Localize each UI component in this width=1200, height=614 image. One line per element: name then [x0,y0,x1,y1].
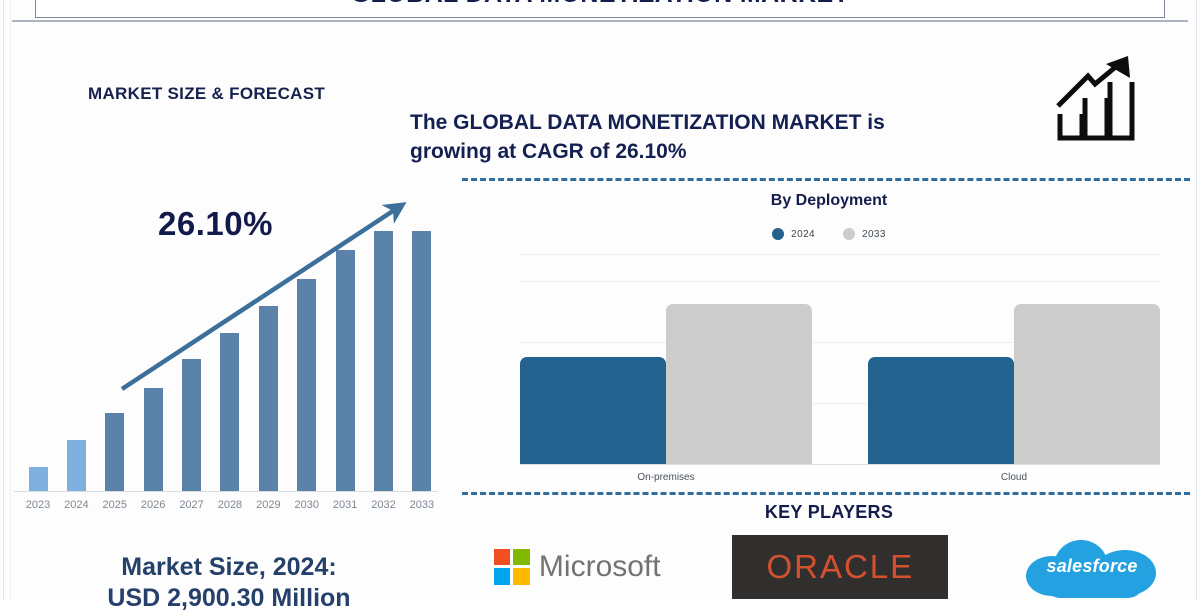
left-bar-slot [174,208,210,491]
key-players-row: Microsoft ORACLE salesforce [458,533,1200,600]
market-size-forecast-panel: MARKET SIZE & FORECAST 26.10% 2023202420… [0,24,458,600]
left-bar-2024 [67,440,86,491]
left-bar-slot [135,208,171,491]
left-chart-bars [14,208,446,491]
growth-chart-arrow-icon [1052,52,1144,144]
left-bar-slot [250,208,286,491]
microsoft-logo-quadrant-1 [513,549,530,566]
left-x-label-2023: 2023 [20,494,56,516]
segment-chart-legend: 20242033 [458,228,1200,240]
legend-item-2024[interactable]: 2024 [772,228,815,240]
market-size-2024-amount: USD 2,900.30 Million [0,583,458,614]
divider-dashed-top [462,178,1190,181]
left-bar-slot [20,208,56,491]
right-bar-group-on-premises [520,280,812,464]
market-size-2024-label: Market Size, 2024: [0,552,458,583]
left-bar-slot [212,208,248,491]
cagr-statement-line-1: The GLOBAL DATA MONETIZATION MARKET is [410,108,1060,137]
right-bar-on-premises-2024 [520,357,666,464]
legend-label-2033: 2033 [862,229,886,240]
cagr-statement: The GLOBAL DATA MONETIZATION MARKET is g… [410,108,1060,166]
left-x-label-2025: 2025 [97,494,133,516]
left-x-label-2031: 2031 [327,494,363,516]
market-size-forecast-label: MARKET SIZE & FORECAST [88,84,325,104]
right-bar-group-cloud [868,280,1160,464]
right-chart-baseline [520,464,1160,465]
legend-swatch-2033 [843,228,855,240]
left-bar-2026 [144,388,163,491]
by-deployment-chart: On-premisesCloud [520,255,1160,490]
left-bar-slot [327,208,363,491]
left-chart-x-axis-labels: 2023202420252026202720282029203020312032… [14,494,446,516]
oracle-logo-icon: ORACLE [732,535,948,599]
left-bar-2031 [336,250,355,491]
segment-and-players-panel: The GLOBAL DATA MONETIZATION MARKET is g… [458,0,1200,600]
key-player-oracle: ORACLE [732,533,948,600]
left-bar-2033 [412,231,431,491]
right-bar-on-premises-2033 [666,304,812,464]
left-bar-slot [289,208,325,491]
left-x-label-2026: 2026 [135,494,171,516]
legend-item-2033[interactable]: 2033 [843,228,886,240]
legend-swatch-2024 [772,228,784,240]
microsoft-logo-icon [494,549,530,585]
salesforce-logo-icon: salesforce [1020,536,1164,598]
left-bar-2032 [374,231,393,491]
left-bar-slot [97,208,133,491]
left-bar-2029 [259,306,278,491]
left-bar-2030 [297,279,316,491]
divider-dashed-bottom [462,492,1190,495]
market-size-forecast-chart: 2023202420252026202720282029203020312032… [14,184,446,516]
microsoft-logo-quadrant-0 [494,549,511,566]
left-x-label-2032: 2032 [366,494,402,516]
right-bar-cloud-2033 [1014,304,1160,464]
key-player-microsoft: Microsoft [494,533,661,600]
left-bar-slot [366,208,402,491]
right-x-label-on-premises: On-premises [520,466,812,490]
left-bar-2028 [220,333,239,491]
key-players-title: KEY PLAYERS [458,502,1200,523]
right-chart-x-axis-labels: On-premisesCloud [520,466,1160,490]
left-bar-2025 [105,413,124,491]
cagr-statement-line-2: growing at CAGR of 26.10% [410,137,1060,166]
microsoft-logo-quadrant-3 [513,568,530,585]
key-player-salesforce: salesforce [1020,533,1164,600]
right-x-label-cloud: Cloud [868,466,1160,490]
left-x-label-2024: 2024 [58,494,94,516]
left-bar-slot [58,208,94,491]
left-bar-slot [404,208,440,491]
infographic-page: GLOBAL DATA MONETIZATION MARKET MARKET S… [0,0,1200,600]
left-x-label-2030: 2030 [289,494,325,516]
left-x-label-2029: 2029 [250,494,286,516]
salesforce-wordmark: salesforce [1047,556,1138,577]
right-chart-bar-groups [520,280,1160,464]
segment-chart-title: By Deployment [458,192,1200,210]
oracle-wordmark: ORACLE [766,548,914,586]
left-bar-2023 [29,467,48,491]
market-size-2024-value: Market Size, 2024: USD 2,900.30 Million [0,552,458,614]
microsoft-wordmark: Microsoft [539,550,661,584]
left-bar-2027 [182,359,201,491]
left-x-label-2028: 2028 [212,494,248,516]
left-x-label-2033: 2033 [404,494,440,516]
right-gridline [520,254,1160,255]
right-bar-cloud-2024 [868,357,1014,464]
microsoft-logo-quadrant-2 [494,568,511,585]
left-chart-baseline [14,491,438,492]
legend-label-2024: 2024 [791,229,815,240]
left-x-label-2027: 2027 [174,494,210,516]
